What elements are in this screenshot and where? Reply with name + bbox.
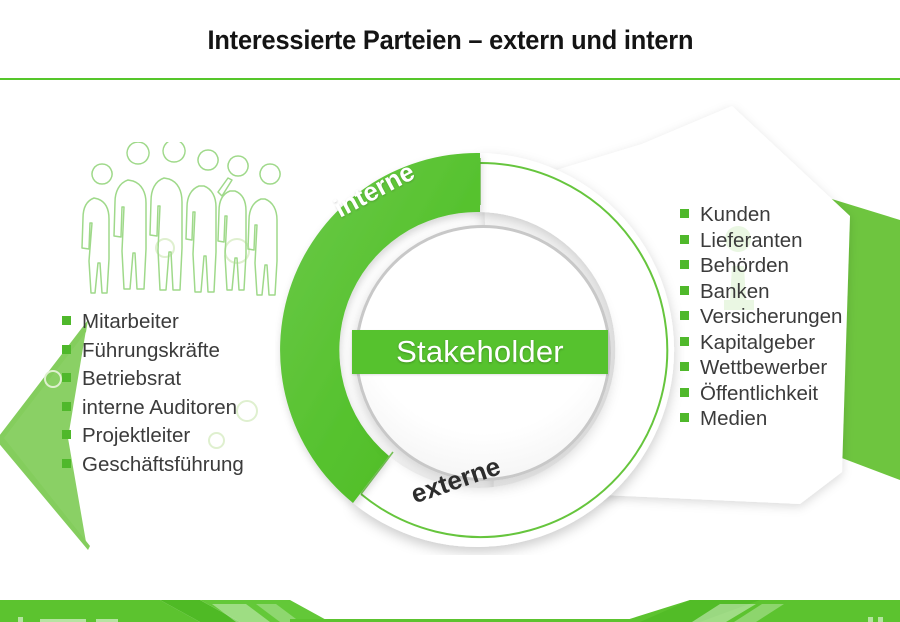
- list-item[interactable]: interne Auditoren: [62, 398, 244, 419]
- list-item[interactable]: Kunden: [680, 205, 842, 226]
- list-item[interactable]: Versicherungen: [680, 307, 842, 328]
- list-item-label: Geschäftsführung: [82, 455, 244, 476]
- bullet-square-icon: [680, 311, 689, 320]
- list-item-label: Kunden: [700, 205, 771, 226]
- footer-decoration: [0, 590, 900, 622]
- list-item-label: Betriebsrat: [82, 369, 181, 390]
- group-of-people-icon: [58, 142, 288, 312]
- page-title: Interessierte Parteien – extern und inte…: [207, 25, 693, 56]
- list-item-label: Kapitalgeber: [700, 333, 815, 354]
- list-item[interactable]: Lieferanten: [680, 231, 842, 252]
- slide-canvas: Interessierte Parteien – extern und inte…: [0, 0, 900, 622]
- list-item-label: Lieferanten: [700, 231, 803, 252]
- list-item[interactable]: Projektleiter: [62, 426, 244, 447]
- list-item-label: Projektleiter: [82, 426, 190, 447]
- internal-stakeholder-list: Mitarbeiter Führungskräfte Betriebsrat i…: [62, 312, 244, 483]
- list-item[interactable]: Banken: [680, 282, 842, 303]
- list-item[interactable]: Wettbewerber: [680, 358, 842, 379]
- list-item[interactable]: Medien: [680, 409, 842, 430]
- diagram-area: interne externe Stakeholder Mitarbeiter …: [0, 80, 900, 622]
- bullet-square-icon: [680, 235, 689, 244]
- list-item-label: Banken: [700, 282, 770, 303]
- list-item[interactable]: Betriebsrat: [62, 369, 244, 390]
- decorative-ring: [44, 370, 62, 388]
- list-item-label: Öffentlichkeit: [700, 384, 818, 405]
- list-item-label: Medien: [700, 409, 767, 430]
- external-stakeholder-list: Kunden Lieferanten Behörden Banken Versi…: [680, 205, 842, 435]
- bullet-square-icon: [680, 413, 689, 422]
- slide-header: Interessierte Parteien – extern und inte…: [0, 0, 900, 80]
- list-item[interactable]: Kapitalgeber: [680, 333, 842, 354]
- bullet-square-icon: [680, 260, 689, 269]
- bullet-square-icon: [62, 373, 71, 382]
- stakeholder-label-band: Stakeholder: [352, 330, 608, 374]
- list-item[interactable]: Geschäftsführung: [62, 455, 244, 476]
- bullet-square-icon: [62, 402, 71, 411]
- bullet-square-icon: [62, 316, 71, 325]
- bullet-square-icon: [680, 337, 689, 346]
- list-item[interactable]: Führungskräfte: [62, 341, 244, 362]
- bullet-square-icon: [680, 388, 689, 397]
- bullet-square-icon: [62, 430, 71, 439]
- list-item-label: interne Auditoren: [82, 398, 237, 419]
- header-divider: [0, 78, 900, 80]
- list-item-label: Wettbewerber: [700, 358, 827, 379]
- list-item[interactable]: Öffentlichkeit: [680, 384, 842, 405]
- bullet-square-icon: [62, 459, 71, 468]
- list-item-label: Führungskräfte: [82, 341, 220, 362]
- list-item[interactable]: Behörden: [680, 256, 842, 277]
- list-item-label: Versicherungen: [700, 307, 842, 328]
- bullet-square-icon: [680, 362, 689, 371]
- bullet-square-icon: [62, 345, 71, 354]
- list-item-label: Behörden: [700, 256, 789, 277]
- bullet-square-icon: [680, 286, 689, 295]
- stakeholder-label-text: Stakeholder: [396, 334, 564, 370]
- bullet-square-icon: [680, 209, 689, 218]
- list-item-label: Mitarbeiter: [82, 312, 179, 333]
- list-item[interactable]: Mitarbeiter: [62, 312, 244, 333]
